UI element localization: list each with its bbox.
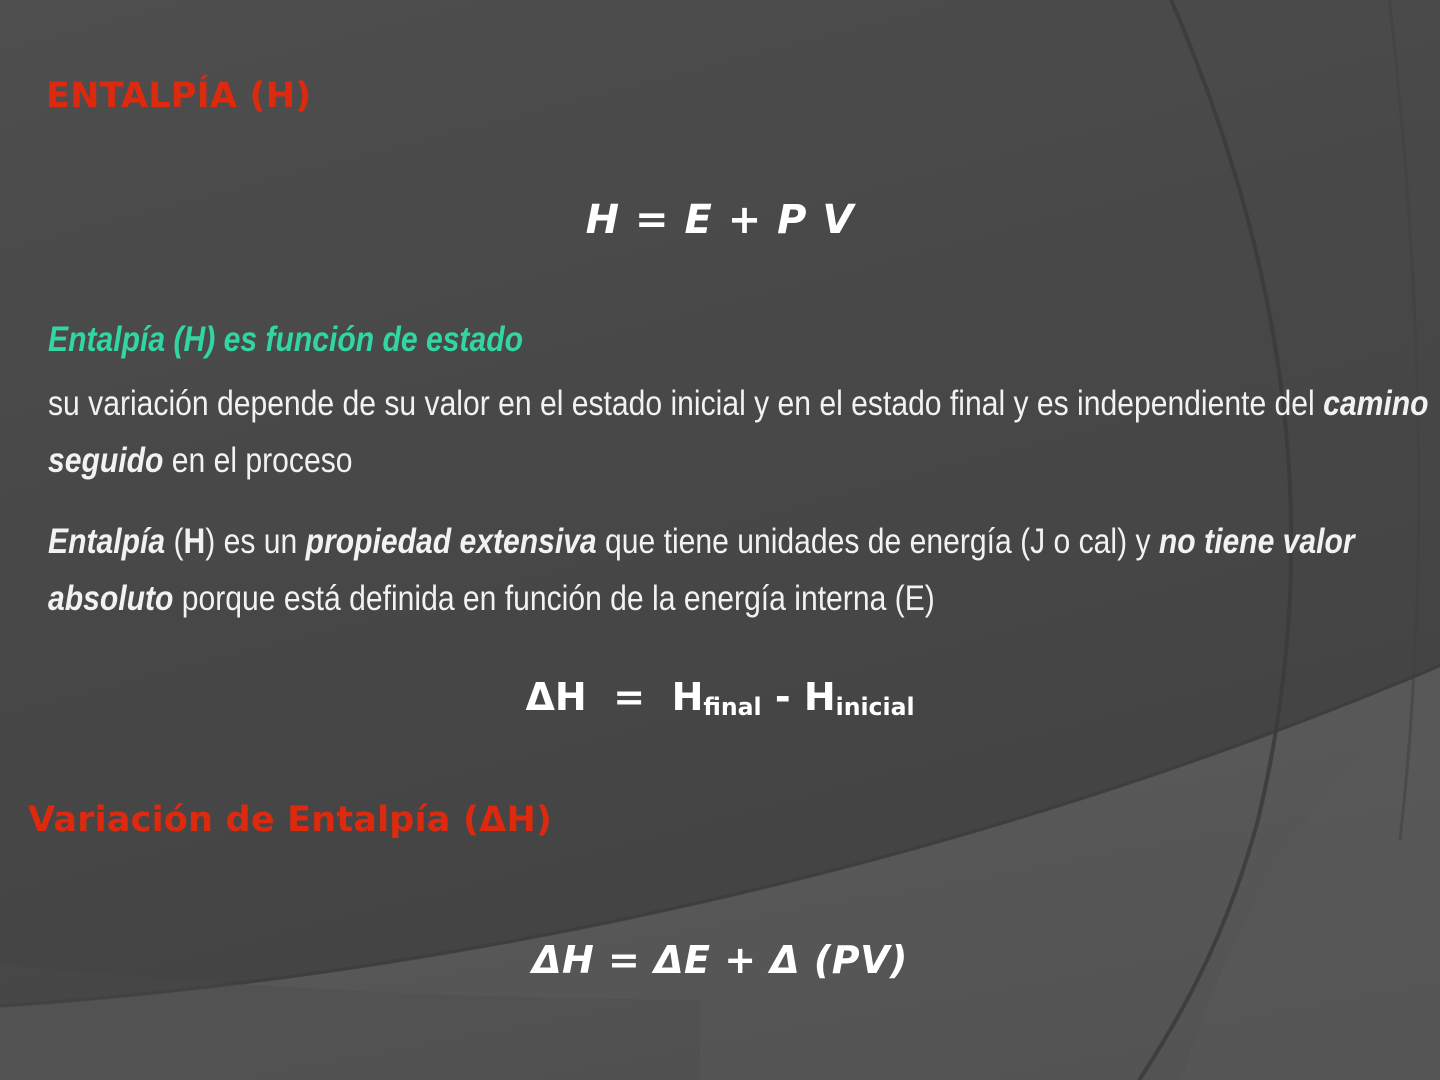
paragraph-extensiva-part1: ( [165,522,183,561]
heading-enthalpy-variation: Variación de Entalpía (ΔH) [28,800,552,840]
formula-delta-subscript-inicial: inicial [836,693,915,721]
paragraph-extensiva-part2: ) es un [205,522,305,561]
paragraph-extensiva-emphasis1: Entalpía [48,522,165,561]
paragraph-estado-part2: en el proceso [163,441,352,480]
formula-delta-subscript-final: final [703,693,761,721]
formula-delta-lhs: ΔH [525,675,586,719]
formula-delta-minus: - [775,675,791,719]
slide-canvas: ENTALPÍA (H) H = E + P V Entalpía (H) es… [0,0,1440,1080]
paragraph-extensiva-emphasis2: propiedad extensiva [306,522,597,561]
paragraph-estado-part1: su variación depende de su valor en el e… [48,384,1323,423]
statement-state-function: Entalpía (H) es función de estado [48,320,523,360]
formula-delta-h-inicial-symbol: H [804,675,836,719]
formula-delta-enthalpy: ΔH = Hfinal - Hinicial [0,675,1440,719]
formula-delta-enthalpy-expansion: ΔH = ΔE + Δ (PV) [0,938,1440,982]
formula-enthalpy-definition: H = E + P V [0,197,1440,243]
paragraph-extensiva-bold-h: H [183,522,205,561]
paragraph-state-function: su variación depende de su valor en el e… [48,375,1440,489]
page-title: ENTALPÍA (H) [46,76,311,116]
paragraph-extensiva-part3: que tiene unidades de energía (J o cal) … [597,522,1159,561]
paragraph-extensive-property: Entalpía (H) es un propiedad extensiva q… [48,513,1440,627]
paragraph-extensiva-part4: porque está definida en función de la en… [173,579,934,618]
formula-delta-equals: = [613,675,645,719]
formula-delta-h-final-symbol: H [672,675,704,719]
